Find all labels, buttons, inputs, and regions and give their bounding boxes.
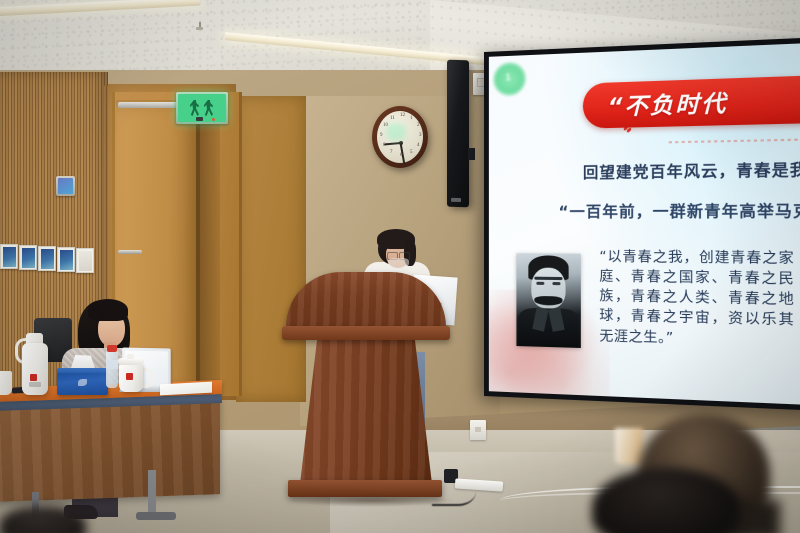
tissue-box[interactable] <box>57 373 108 395</box>
framed-picture <box>0 244 18 269</box>
clock-number: 12 <box>400 113 405 118</box>
clock-number: 5 <box>410 150 413 155</box>
lectern-shadow <box>286 494 456 507</box>
clock-number: 1 <box>410 116 413 121</box>
bottle-label <box>106 360 118 369</box>
clock-number: 11 <box>390 116 395 121</box>
wall-outlet[interactable] <box>470 420 486 440</box>
thermos-logo-icon <box>30 374 37 381</box>
framed-picture <box>76 248 94 273</box>
exit-sign-indicator <box>212 118 215 121</box>
tissue-box-motif-icon <box>78 379 87 386</box>
clock-number: 9 <box>380 133 383 138</box>
thermos-flask[interactable] <box>22 343 48 395</box>
clock-number: 7 <box>390 150 393 155</box>
wall-control-panel[interactable] <box>56 176 75 196</box>
door-closer-icon <box>118 102 180 108</box>
mug-lid <box>118 358 144 365</box>
exit-sign-led <box>196 117 203 121</box>
tea-mug[interactable] <box>0 371 12 395</box>
running-man-icon <box>190 100 201 116</box>
framed-picture <box>19 245 37 270</box>
framed-picture <box>38 246 56 271</box>
slide-quote-text: “以青春之我，创建青春之家庭、青春之国家、青春之民族，青春之人类、青春之地球，青… <box>599 248 794 353</box>
tea-mug[interactable] <box>119 363 143 392</box>
desk-foot <box>136 512 176 520</box>
thermos-label <box>29 382 41 387</box>
clock-number: 4 <box>417 143 420 148</box>
bottle-cap <box>107 345 117 352</box>
water-bottle[interactable] <box>106 350 118 388</box>
slide-heading-line-1: 回望建党百年风云，青春是我党 <box>583 158 800 183</box>
sprinkler-head-icon <box>196 22 203 31</box>
mug-logo-icon <box>126 373 133 380</box>
wood-wall-column <box>236 96 306 402</box>
lectern-wood-grain <box>300 339 432 484</box>
framed-picture <box>57 247 75 272</box>
emergency-exit-sign <box>176 92 228 124</box>
green-badge-label: 1 <box>506 72 511 82</box>
mug-lid-knob <box>127 354 134 359</box>
projection-screen: 1 “不负时代 回望建党百年风云，青春是我党 “一百年前，一群新青年高举马克思 <box>484 37 800 412</box>
speaker-bracket <box>468 148 475 160</box>
running-man-icon <box>204 100 215 116</box>
paper-cup <box>615 428 643 464</box>
moderator-hair-front <box>88 299 128 321</box>
wall-clock: 12 1 2 3 4 5 6 7 8 9 10 11 <box>372 106 428 168</box>
historical-portrait-photo <box>516 253 580 348</box>
clock-number: 2 <box>417 123 420 128</box>
door-recess-shadow <box>196 100 220 396</box>
lectern-shelf <box>282 326 450 340</box>
desk-leg <box>148 470 156 518</box>
slide-surface: 1 “不负时代 回望建党百年风云，青春是我党 “一百年前，一群新青年高举马克思 <box>489 42 800 406</box>
slide-title-text: “不负时代 <box>608 85 728 122</box>
presenter-face-mask <box>388 258 409 269</box>
door-handle-icon[interactable] <box>118 250 142 254</box>
slide-heading-line-2: “一百年前，一群新青年高举马克思 <box>558 199 800 222</box>
lectern-top <box>286 272 446 330</box>
clock-hour-hand <box>384 142 400 146</box>
clock-glare <box>386 123 406 141</box>
clock-center-pin <box>399 141 403 145</box>
slide-title-ribbon: “不负时代 <box>583 75 800 129</box>
clock-number: 3 <box>419 133 422 138</box>
conference-room-photo: 12 1 2 3 4 5 6 7 8 9 10 11 1 <box>0 0 800 533</box>
desk-wood-grain <box>0 396 220 502</box>
column-loudspeaker <box>447 60 469 208</box>
